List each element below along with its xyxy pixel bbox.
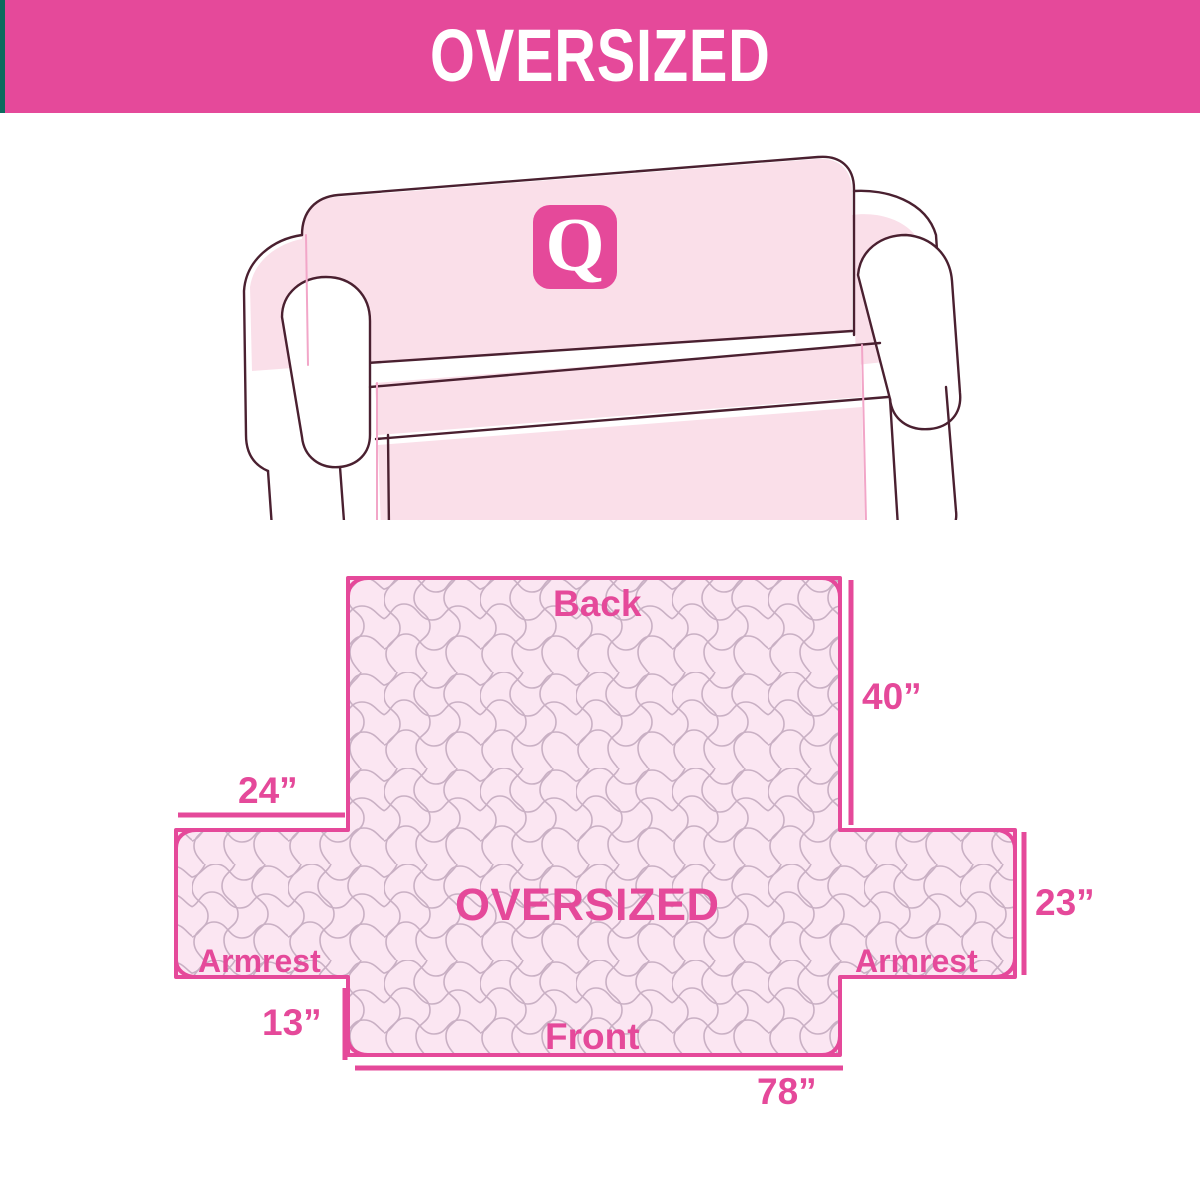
dimension-label-width: 78”: [757, 1073, 817, 1110]
brand-logo-badge: Q: [533, 205, 617, 289]
panel-label-back: Back: [553, 585, 641, 622]
sofa-arm-left-inner-edge: [340, 467, 350, 520]
corner-tr: [822, 578, 840, 597]
panel-label-armrest-left: Armrest: [198, 945, 321, 977]
dimension-label-armrest-height: 23”: [1035, 884, 1095, 921]
sofa-illustration: [240, 135, 980, 520]
corner-arm-r-br: [995, 958, 1015, 977]
brand-logo-letter: Q: [545, 207, 604, 283]
header-banner: OVERSIZED: [0, 0, 1200, 113]
dimension-label-back-depth: 24”: [238, 772, 298, 809]
corner-br: [822, 1036, 840, 1055]
corner-bl: [348, 1038, 368, 1055]
sofa-arm-left-front: [268, 471, 390, 520]
dimension-label-front-drop: 13”: [262, 1004, 322, 1041]
sofa-arm-left-scroll: [282, 277, 370, 467]
banner-title: OVERSIZED: [430, 19, 771, 93]
corner-arm-l-bl: [176, 960, 196, 977]
cover-outline-shape: [176, 578, 1015, 1055]
dimension-label-back-height: 40”: [862, 678, 922, 715]
banner-accent-stripe: [0, 0, 5, 113]
panel-label-armrest-right: Armrest: [855, 945, 978, 977]
corner-arm-r-tr: [996, 830, 1015, 849]
panel-label-front: Front: [545, 1018, 640, 1055]
corner-tl: [348, 578, 368, 596]
sofa-arm-right-scroll: [858, 235, 960, 429]
diagram-title: OVERSIZED: [455, 882, 720, 927]
corner-arm-l-tl: [176, 830, 196, 848]
